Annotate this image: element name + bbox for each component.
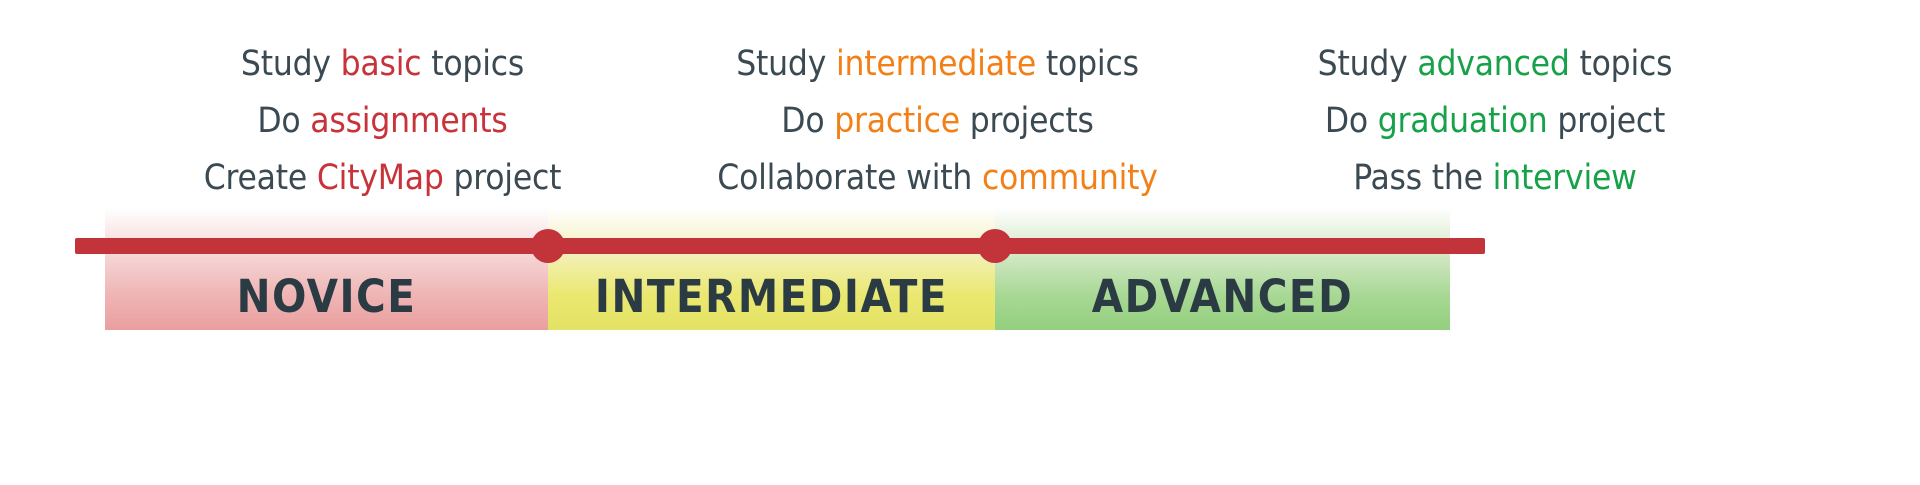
- task-text-highlight: assignments: [310, 101, 507, 141]
- task-text-before: Pass the: [1353, 158, 1492, 198]
- task-text-before: Study: [1318, 44, 1418, 84]
- task-text-before: Do: [257, 101, 310, 141]
- task-line: Do practice projects: [781, 93, 1093, 150]
- task-line: Study intermediate topics: [736, 36, 1139, 93]
- task-text-after: project: [1548, 101, 1666, 141]
- stage-label-novice: NOVICE: [105, 265, 548, 327]
- task-text-before: Collaborate with: [717, 158, 982, 198]
- task-text-before: Study: [736, 44, 836, 84]
- task-line: Collaborate with community: [717, 150, 1157, 207]
- tasks-layer: Study basic topics Do assignments Create…: [105, 36, 1775, 206]
- timeline-rule: [75, 238, 1485, 254]
- task-text-before: Study: [241, 44, 341, 84]
- task-text-highlight: community: [982, 158, 1158, 198]
- task-text-highlight: advanced: [1417, 44, 1569, 84]
- stage-label-advanced: ADVANCED: [995, 265, 1450, 327]
- task-text-after: topics: [1570, 44, 1673, 84]
- task-text-highlight: CityMap: [317, 158, 444, 198]
- task-column-intermediate: Study intermediate topics Do practice pr…: [660, 36, 1215, 206]
- task-line: Study advanced topics: [1318, 36, 1673, 93]
- task-text-highlight: basic: [341, 44, 422, 84]
- task-line: Do assignments: [257, 93, 507, 150]
- task-text-after: topics: [1036, 44, 1139, 84]
- task-text-after: project: [444, 158, 562, 198]
- task-text-highlight: interview: [1493, 158, 1637, 198]
- task-line: Create CityMap project: [204, 150, 562, 207]
- task-text-highlight: intermediate: [836, 44, 1036, 84]
- task-text-before: Create: [204, 158, 317, 198]
- task-line: Study basic topics: [241, 36, 524, 93]
- task-line: Do graduation project: [1325, 93, 1665, 150]
- task-column-novice: Study basic topics Do assignments Create…: [105, 36, 660, 206]
- milestone-dot-novice-to-intermediate: [531, 229, 565, 263]
- task-text-before: Do: [781, 101, 834, 141]
- roadmap-diagram: Study basic topics Do assignments Create…: [0, 0, 1920, 485]
- task-text-highlight: graduation: [1378, 101, 1548, 141]
- stage-labels: NOVICE INTERMEDIATE ADVANCED: [105, 265, 1450, 327]
- task-text-highlight: practice: [834, 101, 960, 141]
- task-text-after: projects: [960, 101, 1094, 141]
- task-column-advanced: Study advanced topics Do graduation proj…: [1215, 36, 1775, 206]
- milestone-dot-intermediate-to-advanced: [978, 229, 1012, 263]
- task-text-before: Do: [1325, 101, 1378, 141]
- task-line: Pass the interview: [1353, 150, 1637, 207]
- task-text-after: topics: [421, 44, 524, 84]
- stage-label-intermediate: INTERMEDIATE: [548, 265, 995, 327]
